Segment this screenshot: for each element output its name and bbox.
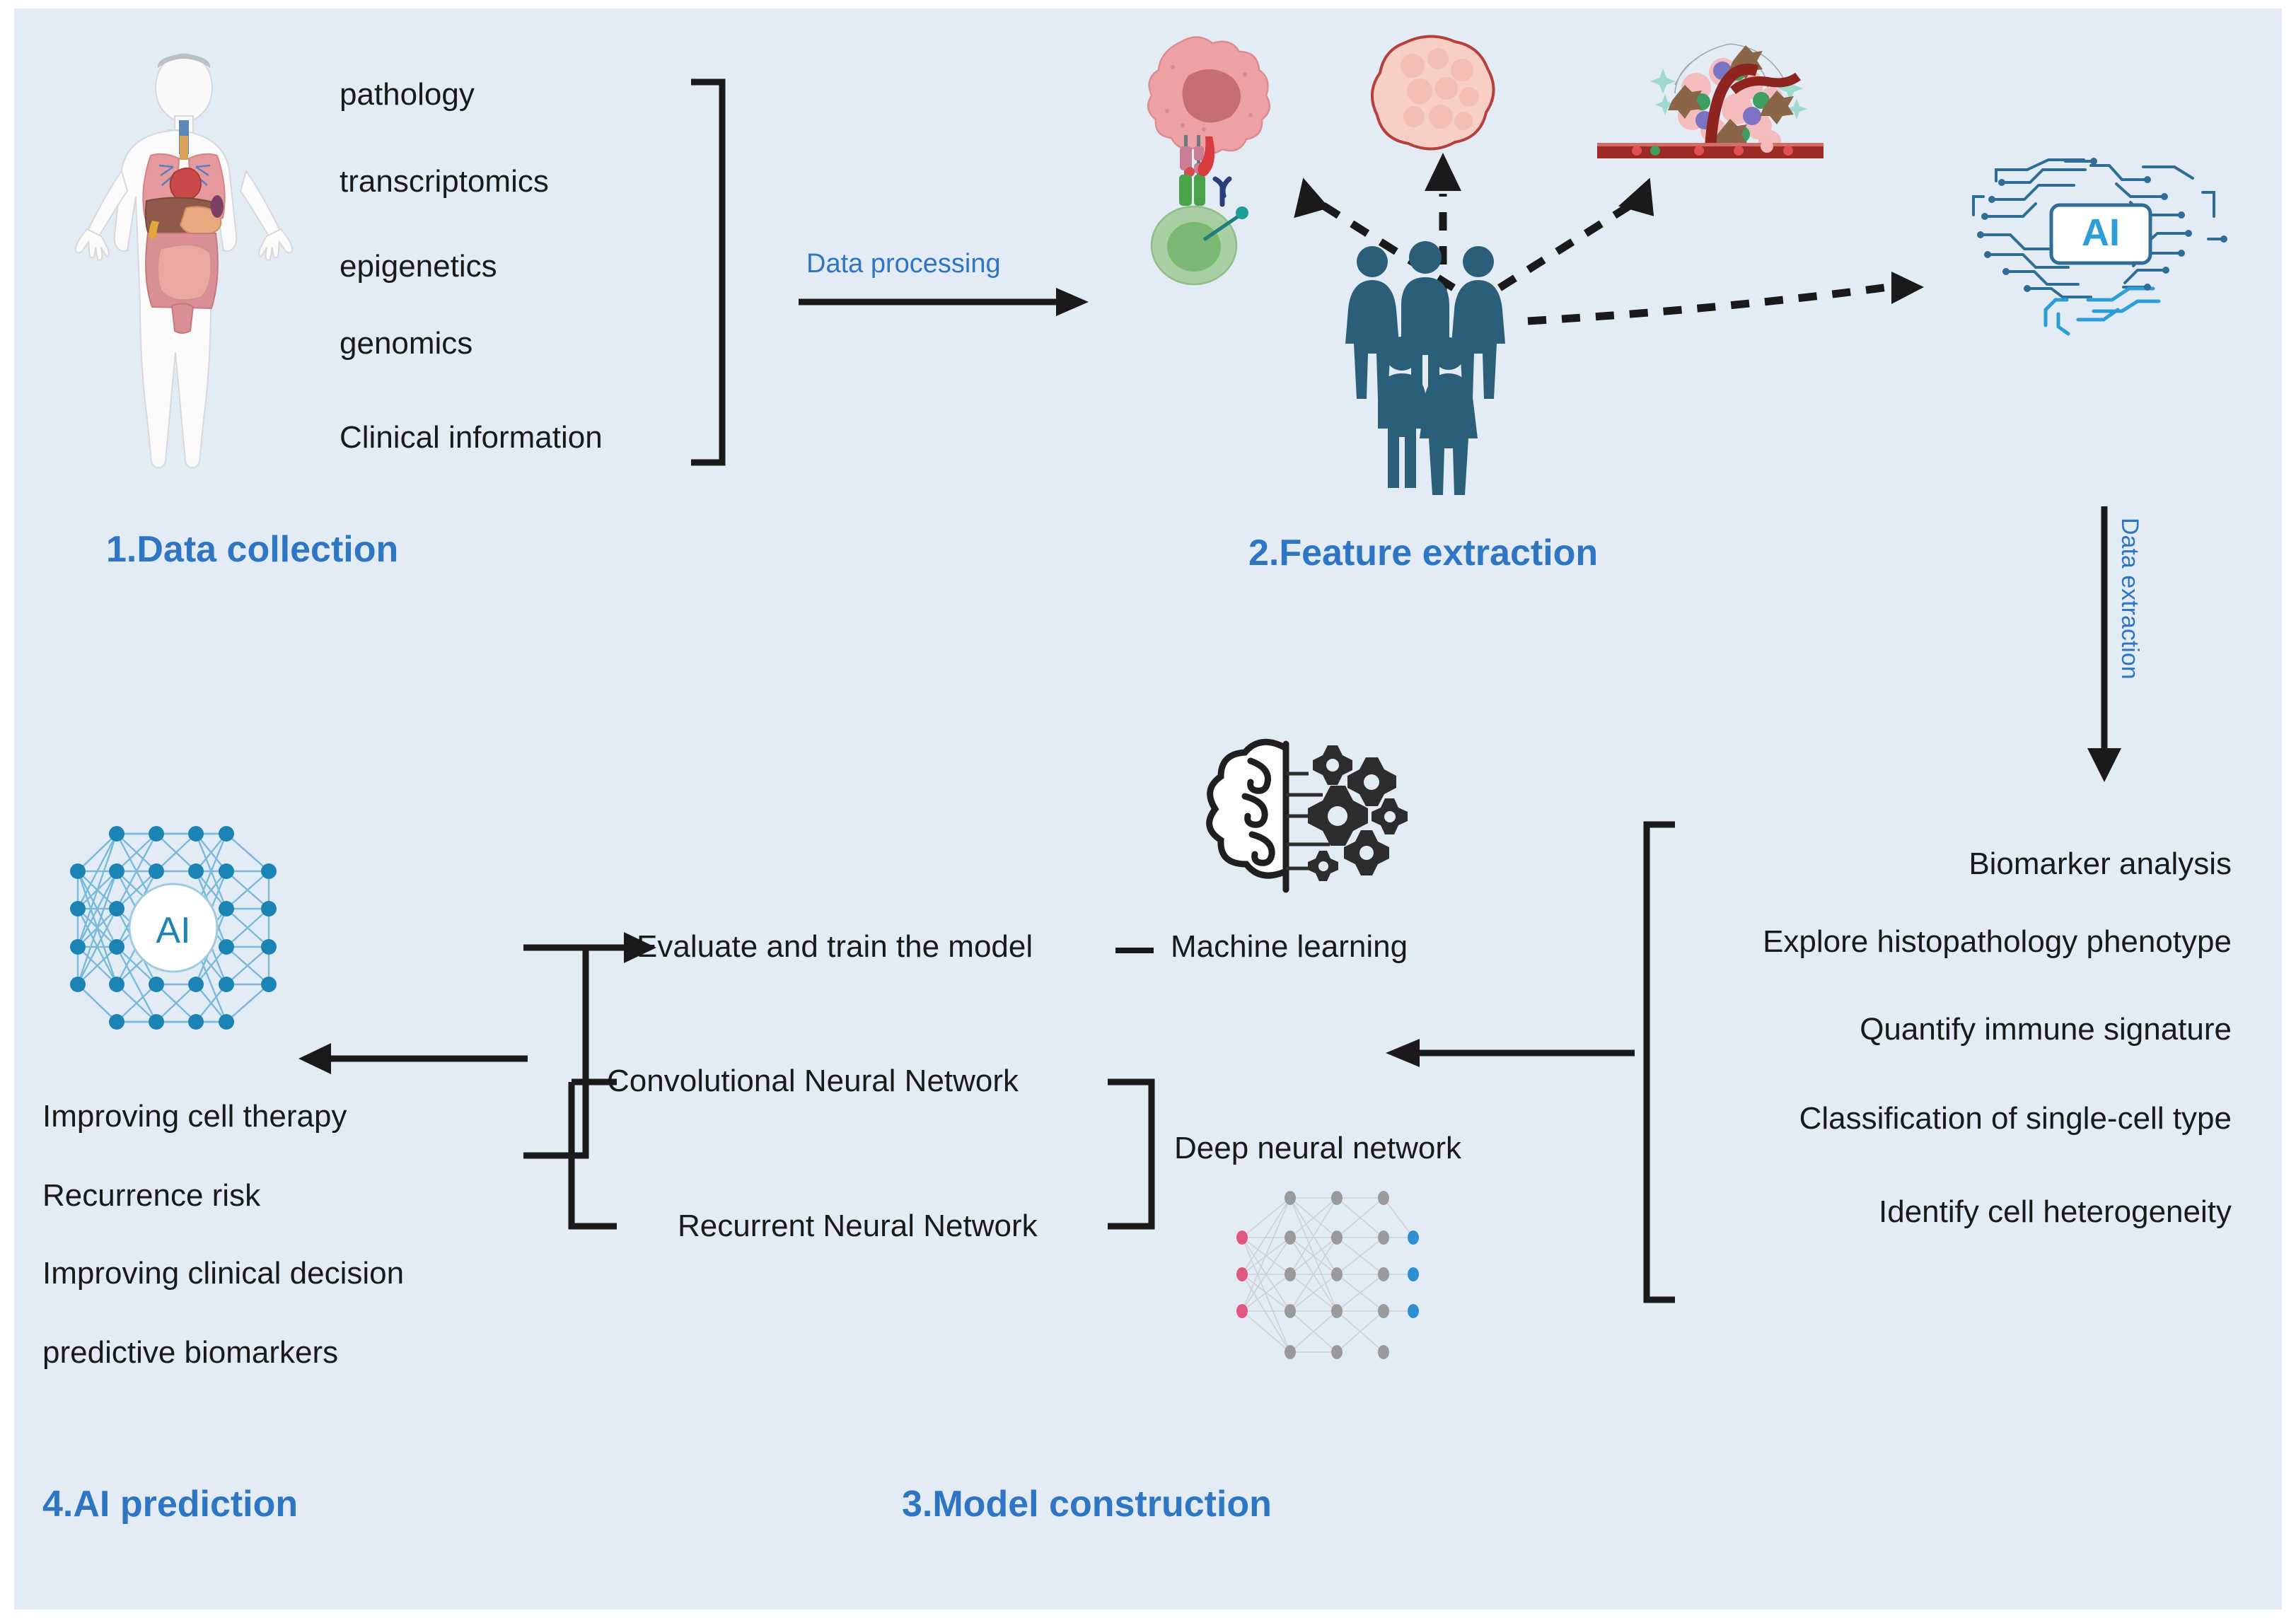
machine-learning-label: Machine learning [1171, 931, 1408, 962]
outcome-recurrence-risk: Recurrence risk [42, 1180, 260, 1211]
evaluate-train-model-label: Evaluate and train the model [637, 931, 1033, 962]
deep-network-right-bracket [1103, 1078, 1167, 1233]
outcome-improving-cell-therapy: Improving cell therapy [42, 1101, 347, 1132]
analysis-item-explore-histopathology-phenotype: Explore histopathology phenotype [1666, 926, 2232, 958]
ml-dash-connector [1114, 945, 1156, 955]
deep-neural-network-icon [1217, 1182, 1422, 1373]
data-item-epigenetics: epigenetics [340, 251, 497, 282]
connector-label-data-extraction: Data extraction [2116, 518, 2143, 680]
ai-mesh-network-icon: AI [50, 818, 297, 1037]
tumor-microenvironment-icon [1591, 23, 1832, 185]
human-body-anatomy-icon [67, 37, 301, 479]
figure-canvas: pathology transcriptomics epigenetics ge… [14, 8, 2282, 1610]
data-item-clinical-information: Clinical information [340, 422, 603, 453]
outcome-predictive-biomarkers: predictive biomarkers [42, 1337, 338, 1368]
analysis-item-quantify-immune-signature: Quantify immune signature [1666, 1014, 2232, 1045]
dashed-arrow-to-ai-brain [1521, 270, 1945, 348]
analysis-outputs-bracket [1641, 822, 1683, 1303]
data-processing-arrow [796, 284, 1093, 320]
outcome-improving-clinical-decision: Improving clinical decision [42, 1258, 404, 1289]
brain-gears-icon [1202, 730, 1408, 907]
analysis-item-biomarker-analysis: Biomarker analysis [1666, 849, 2232, 880]
section-label-data-collection: 1.Data collection [106, 528, 398, 571]
ai-chip-label: AI [2082, 211, 2120, 254]
data-item-genomics: genomics [340, 328, 472, 359]
ai-node-label: AI [156, 910, 190, 951]
data-item-pathology: pathology [340, 79, 475, 110]
deep-neural-network-label: Deep neural network [1174, 1133, 1461, 1164]
analysis-item-classification-single-cell-type: Classification of single-cell type [1666, 1103, 2232, 1134]
data-item-transcriptomics: transcriptomics [340, 166, 549, 197]
analysis-to-model-arrow [1383, 1035, 1637, 1071]
data-collection-bracket [690, 79, 732, 465]
cnn-label: Convolutional Neural Network [607, 1066, 1019, 1097]
connector-label-data-processing: Data processing [806, 249, 1001, 279]
section-label-feature-extraction: 2.Feature extraction [1248, 532, 1598, 574]
model-to-prediction-arrow [297, 1041, 530, 1076]
rnn-label: Recurrent Neural Network [678, 1211, 1038, 1242]
section-label-ai-prediction: 4.AI prediction [42, 1483, 298, 1525]
analysis-item-identify-cell-heterogeneity: Identify cell heterogeneity [1666, 1197, 2232, 1228]
patient-cohort-icon [1344, 242, 1507, 447]
ai-circuit-brain-icon: AI [1959, 150, 2242, 341]
section-label-model-construction: 3.Model construction [902, 1483, 1272, 1525]
tumor-spheroid-icon [1376, 33, 1500, 146]
